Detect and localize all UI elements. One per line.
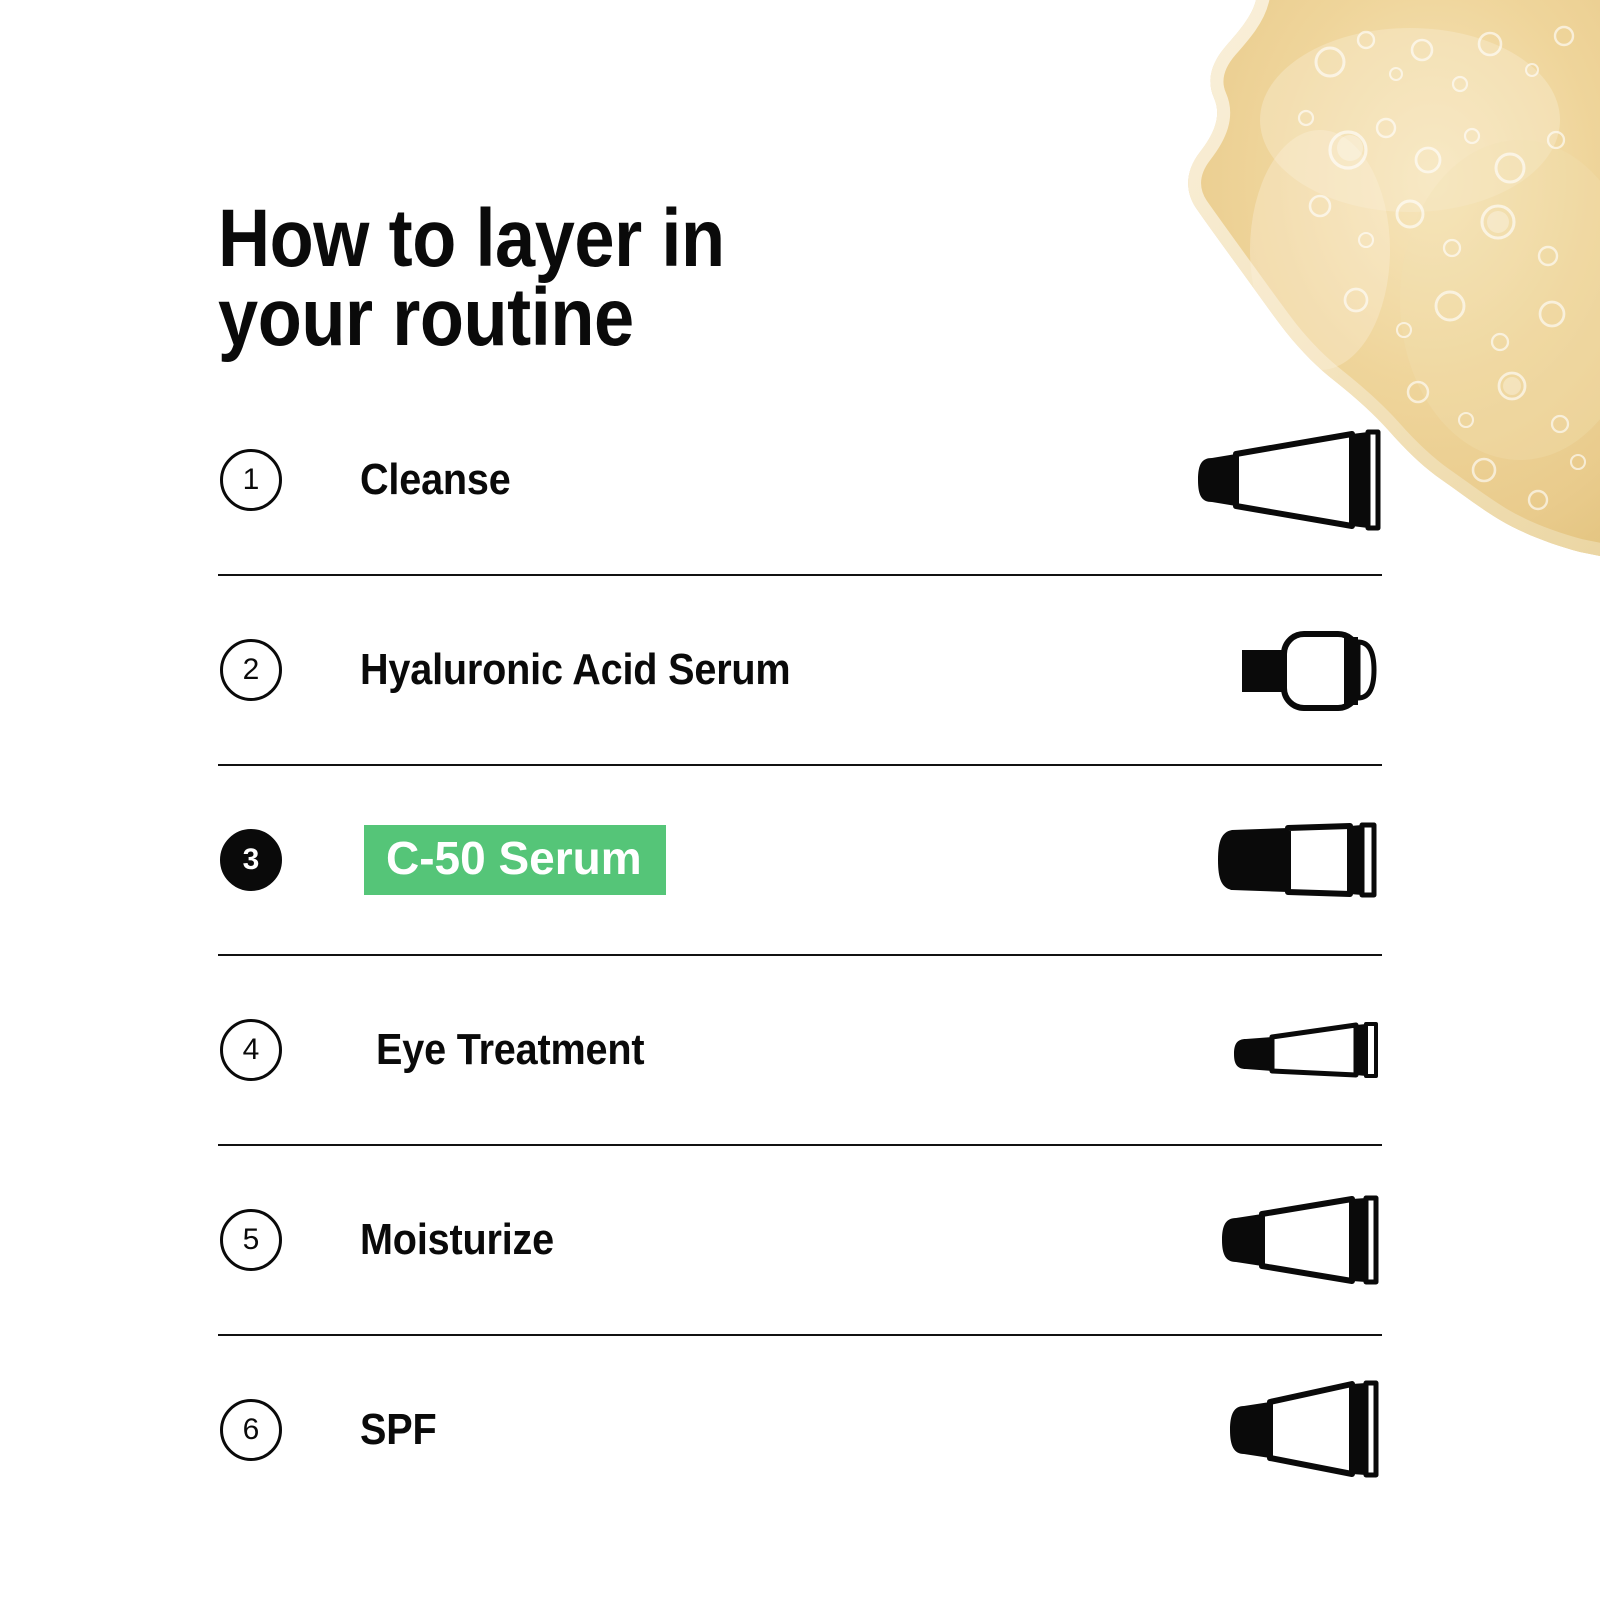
spf-tube-icon <box>1180 1370 1380 1490</box>
dropper-bottle-icon <box>1180 610 1380 730</box>
routine-step-row[interactable]: 2 Hyaluronic Acid Serum <box>218 574 1382 764</box>
routine-step-row[interactable]: 5 Moisturize <box>218 1144 1382 1334</box>
page-title: How to layer in your routine <box>218 199 852 358</box>
routine-step-list: 1 Cleanse 2 Hyaluronic Acid Serum <box>218 386 1382 1524</box>
step-label: Hyaluronic Acid Serum <box>360 645 1098 695</box>
routine-step-row[interactable]: 1 Cleanse <box>218 386 1382 574</box>
routine-step-row[interactable]: 4 Eye Treatment <box>218 954 1382 1144</box>
step-number: 6 <box>243 1413 260 1447</box>
step-label: SPF <box>360 1405 1098 1455</box>
step-label: C-50 Serum <box>364 825 1180 895</box>
step-number-badge-active: 3 <box>220 829 282 891</box>
eye-cream-tube-icon <box>1180 990 1380 1110</box>
step-number: 2 <box>243 653 260 687</box>
step-number: 5 <box>243 1223 260 1257</box>
step-number-badge: 2 <box>220 639 282 701</box>
step-number: 1 <box>243 463 260 497</box>
step-label: Moisturize <box>360 1215 1098 1265</box>
step-number-badge: 4 <box>220 1019 282 1081</box>
moisturizer-tube-icon <box>1180 1180 1380 1300</box>
routine-step-row[interactable]: 6 SPF <box>218 1334 1382 1524</box>
step-number: 3 <box>243 843 260 877</box>
routine-infographic: How to layer in your routine 1 Cleanse 2 <box>0 0 1600 1600</box>
cleanser-tube-icon <box>1180 420 1380 540</box>
step-label-highlight: C-50 Serum <box>364 825 666 895</box>
step-number-badge: 5 <box>220 1209 282 1271</box>
step-label: Cleanse <box>360 455 1098 505</box>
routine-step-row-active[interactable]: 3 C-50 Serum <box>218 764 1382 954</box>
step-number-badge: 6 <box>220 1399 282 1461</box>
serum-tube-icon <box>1180 800 1380 920</box>
step-number: 4 <box>243 1033 260 1067</box>
step-label: Eye Treatment <box>376 1025 1100 1075</box>
step-number-badge: 1 <box>220 449 282 511</box>
